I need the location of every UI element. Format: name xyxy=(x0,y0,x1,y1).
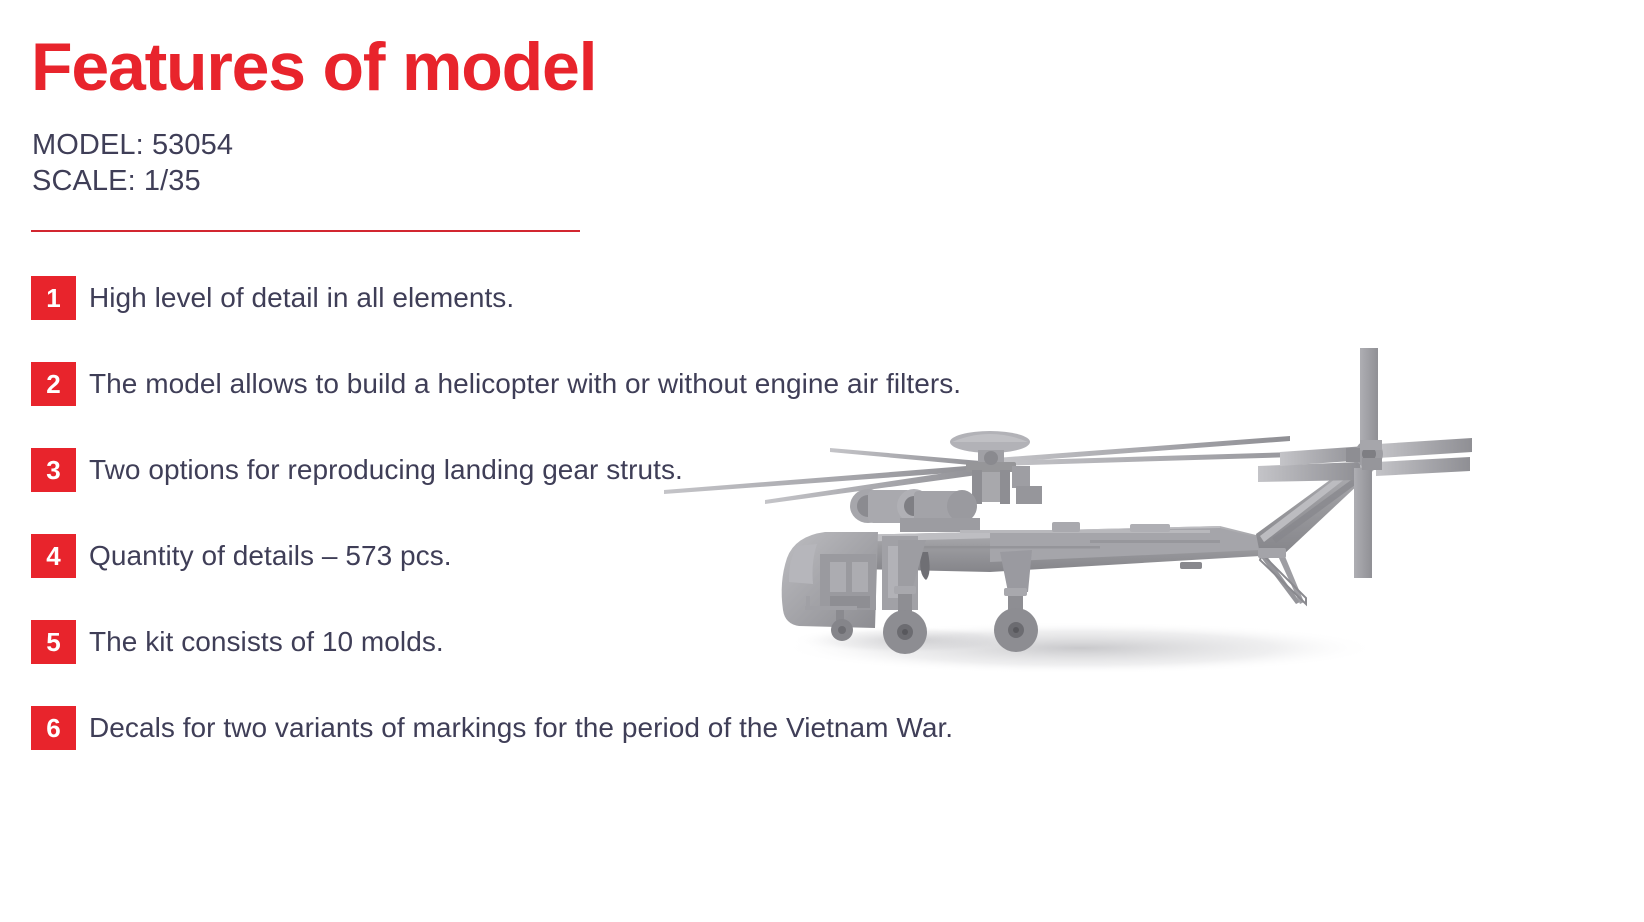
list-item: 1 High level of detail in all elements. xyxy=(31,276,1131,320)
feature-number-badge: 5 xyxy=(31,620,76,664)
model-scale-label: SCALE: 1/35 xyxy=(32,163,233,199)
list-item: 4 Quantity of details – 573 pcs. xyxy=(31,534,1131,578)
feature-number-badge: 2 xyxy=(31,362,76,406)
feature-text: Two options for reproducing landing gear… xyxy=(76,448,1131,492)
feature-text: The model allows to build a helicopter w… xyxy=(76,362,1131,406)
list-item: 5 The kit consists of 10 molds. xyxy=(31,620,1131,664)
horizontal-stabilizer xyxy=(1258,457,1470,482)
feature-number-badge: 4 xyxy=(31,534,76,578)
page-title: Features of model xyxy=(31,24,596,110)
feature-text: The kit consists of 10 molds. xyxy=(76,620,1131,664)
model-number-label: MODEL: 53054 xyxy=(32,127,233,163)
feature-text: Decals for two variants of markings for … xyxy=(76,706,1131,750)
feature-number-badge: 1 xyxy=(31,276,76,320)
header-divider xyxy=(31,230,580,232)
feature-number-badge: 6 xyxy=(31,706,76,750)
tail-pylon xyxy=(1256,458,1376,604)
feature-number-badge: 3 xyxy=(31,448,76,492)
list-item: 3 Two options for reproducing landing ge… xyxy=(31,448,1131,492)
text-column: Features of model MODEL: 53054 SCALE: 1/… xyxy=(31,0,1151,922)
model-meta: MODEL: 53054 SCALE: 1/35 xyxy=(32,127,233,199)
feature-text: High level of detail in all elements. xyxy=(76,276,1131,320)
tail-rotor xyxy=(1280,348,1472,578)
features-list: 1 High level of detail in all elements. … xyxy=(31,276,1131,750)
list-item: 2 The model allows to build a helicopter… xyxy=(31,362,1131,406)
slide-root: Features of model MODEL: 53054 SCALE: 1/… xyxy=(0,0,1644,922)
feature-text: Quantity of details – 573 pcs. xyxy=(76,534,1131,578)
list-item: 6 Decals for two variants of markings fo… xyxy=(31,706,1131,750)
